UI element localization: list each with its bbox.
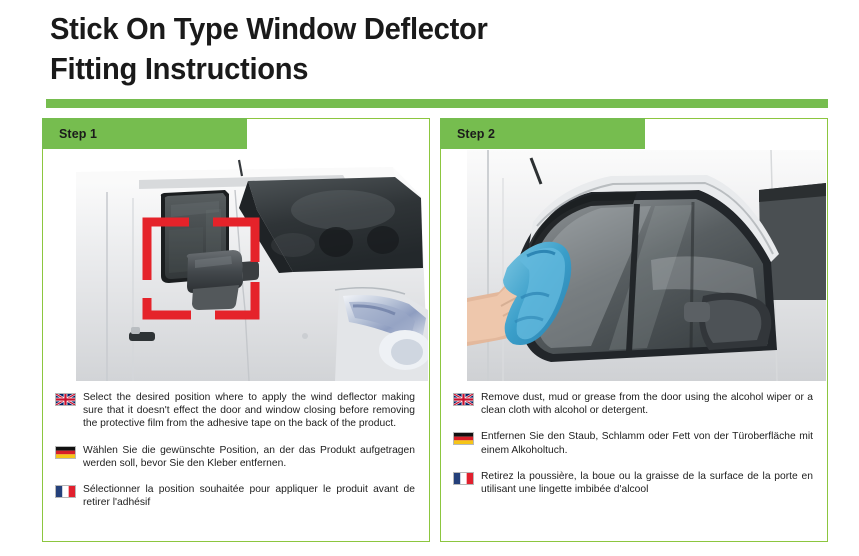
instruction-row: Select the desired position where to app… [55, 391, 415, 431]
step-tab-1: Step 1 [42, 118, 247, 149]
page-title-line-2: Fitting Instructions [50, 52, 308, 86]
step-tab-2: Step 2 [440, 118, 645, 149]
instruction-text: Entfernen Sie den Staub, Schlamm oder Fe… [481, 430, 813, 456]
step-panel-1: Step 1 [42, 118, 430, 542]
step-2-instructions: Remove dust, mud or grease from the door… [441, 385, 827, 541]
step-2-photo [441, 150, 826, 381]
instruction-sheet: Stick On Type Window Deflector Fitting I… [0, 0, 859, 556]
flag-germany-icon [55, 446, 76, 459]
instruction-text: Select the desired position where to app… [83, 391, 415, 431]
instruction-text: Remove dust, mud or grease from the door… [481, 391, 813, 417]
instruction-text: Retirez la poussière, la boue ou la grai… [481, 470, 813, 496]
flag-france-icon [55, 485, 76, 498]
instruction-row: Wählen Sie die gewünschte Position, an d… [55, 444, 415, 470]
page-title-line-1: Stick On Type Window Deflector [50, 12, 488, 46]
instruction-text: Wählen Sie die gewünschte Position, an d… [83, 444, 415, 470]
flag-uk-icon [55, 393, 76, 406]
instruction-text: Sélectionner la position souhaitée pour … [83, 483, 415, 509]
step-panel-2: Step 2 [440, 118, 828, 542]
instruction-row: Sélectionner la position souhaitée pour … [55, 483, 415, 509]
step-1-instructions: Select the desired position where to app… [43, 385, 429, 541]
instruction-row: Entfernen Sie den Staub, Schlamm oder Fe… [453, 430, 813, 456]
step-tab-1-label: Step 1 [59, 127, 97, 141]
instruction-row: Retirez la poussière, la boue ou la grai… [453, 470, 813, 496]
page-header: Stick On Type Window Deflector Fitting I… [0, 0, 859, 112]
step-tab-2-label: Step 2 [457, 127, 495, 141]
flag-germany-icon [453, 432, 474, 445]
header-divider-rule [46, 99, 828, 108]
steps-container: Step 1 [0, 118, 859, 548]
step-1-photo [43, 150, 428, 381]
instruction-row: Remove dust, mud or grease from the door… [453, 391, 813, 417]
flag-france-icon [453, 472, 474, 485]
flag-uk-icon [453, 393, 474, 406]
